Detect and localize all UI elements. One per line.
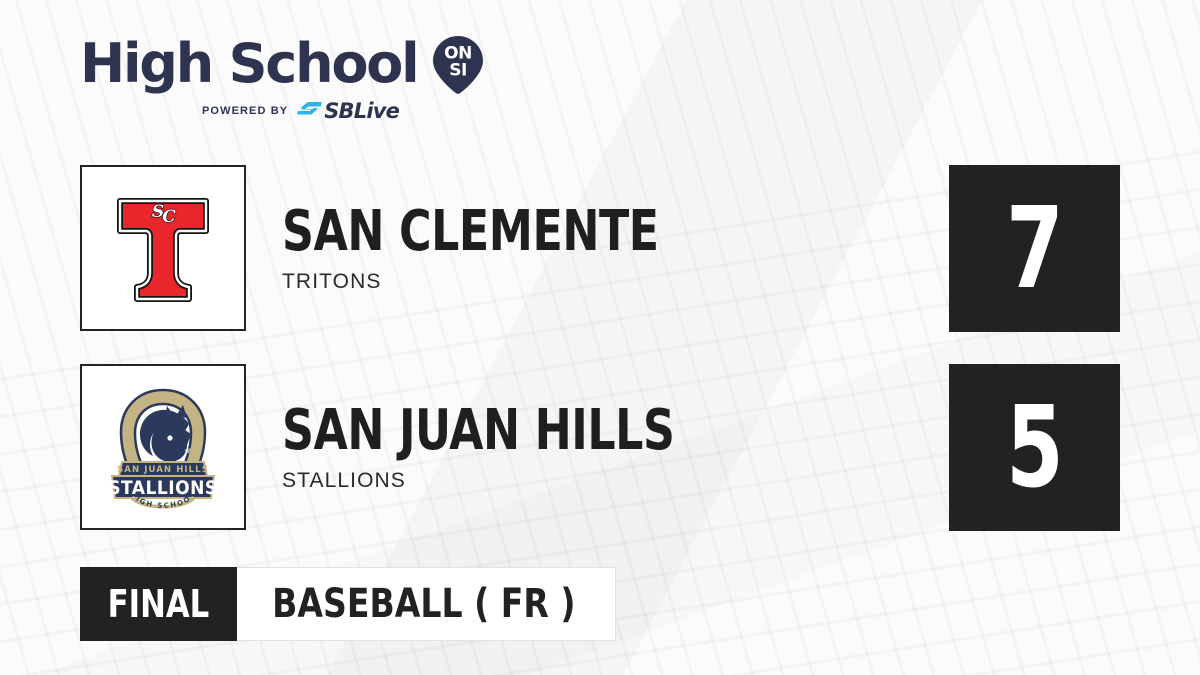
- scoreboard-graphic: High School ON SI POWERED BY SBLive: [0, 0, 1200, 675]
- brand-lockup: High School ON SI: [80, 33, 510, 95]
- game-state-badge: FINAL: [80, 567, 237, 641]
- team-name: SAN JUAN HILLS: [282, 402, 674, 460]
- svg-text:SI: SI: [450, 61, 468, 81]
- team-mascot: TRITONS: [282, 270, 710, 294]
- sport-panel: BASEBALL ( FR ): [237, 567, 616, 641]
- team-info: SAN CLEMENTE TRITONS: [282, 203, 710, 294]
- team-logo-card: S C: [80, 165, 246, 331]
- team-score-box: 5: [949, 364, 1120, 531]
- on-si-pin-icon: ON SI: [427, 33, 489, 95]
- game-state-label: FINAL: [108, 585, 210, 623]
- team-row: SAN JUAN HILLS STALLIONS HIGH SCHOOL SAN…: [80, 364, 728, 530]
- brand-header: High School ON SI POWERED BY SBLive: [80, 33, 510, 120]
- team-score-box: 7: [949, 165, 1120, 332]
- san-clemente-tritons-logo-icon: S C: [88, 173, 238, 323]
- sblive-wordmark: SBLive: [324, 101, 399, 122]
- brand-wordmark: High School: [80, 37, 417, 91]
- team-mascot: STALLIONS: [282, 469, 728, 493]
- powered-by-label: POWERED BY: [202, 105, 288, 117]
- sport-label: BASEBALL ( FR ): [272, 584, 575, 624]
- team-score: 5: [1007, 392, 1063, 504]
- sblive-wordmark-lower: ive: [366, 99, 399, 123]
- logo-wordmark-text: STALLIONS: [108, 477, 218, 499]
- team-info: SAN JUAN HILLS STALLIONS: [282, 402, 728, 493]
- logo-banner-text: SAN JUAN HILLS: [117, 465, 209, 475]
- sblive-logo: SBLive: [297, 101, 399, 122]
- svg-text:C: C: [162, 207, 176, 227]
- team-name: SAN CLEMENTE: [282, 203, 659, 261]
- team-score: 7: [1007, 193, 1063, 305]
- team-logo-card: SAN JUAN HILLS STALLIONS HIGH SCHOOL: [80, 364, 246, 530]
- sblive-wordmark-upper: SBL: [324, 99, 366, 123]
- san-juan-hills-stallions-logo-icon: SAN JUAN HILLS STALLIONS HIGH SCHOOL: [88, 372, 238, 522]
- sblive-s-mark-icon: [297, 101, 323, 121]
- team-row: S C SAN CLEMENTE TRITONS: [80, 165, 710, 331]
- powered-by-lockup: POWERED BY SBLive: [202, 102, 510, 120]
- status-bar: FINAL BASEBALL ( FR ): [80, 567, 616, 641]
